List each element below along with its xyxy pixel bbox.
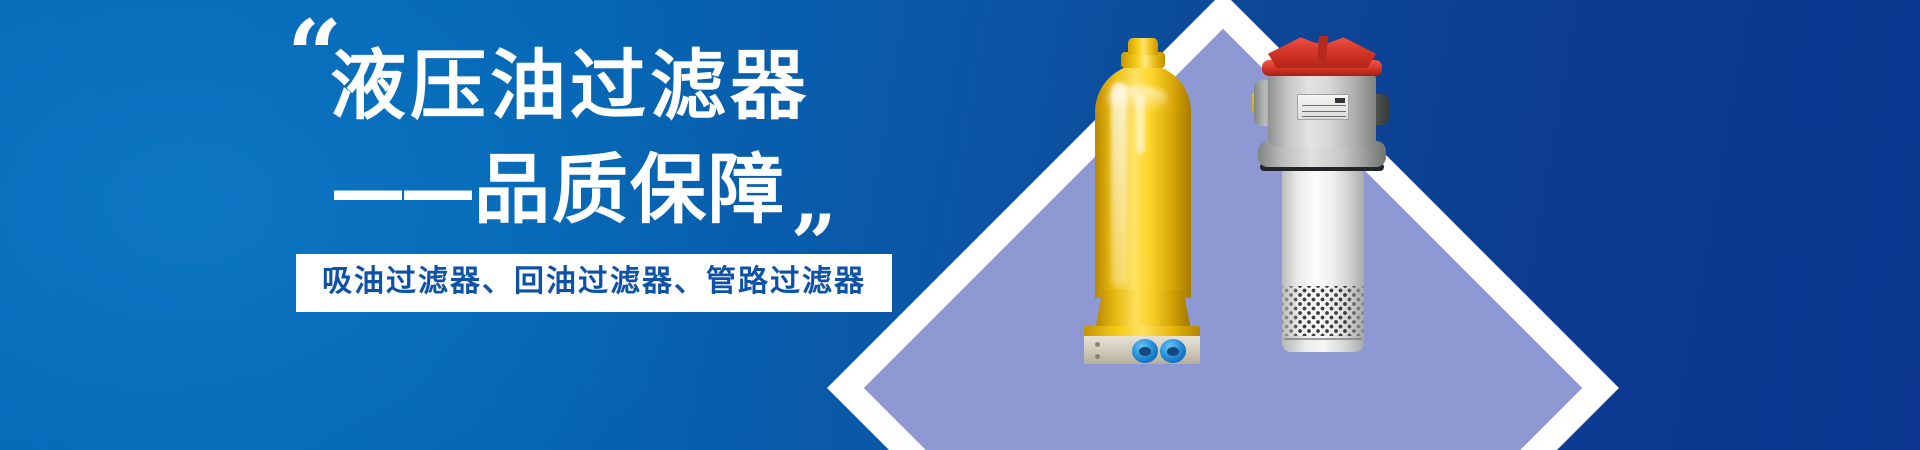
- nameplate-line-2: [1302, 111, 1346, 112]
- nameplate-marking: [1335, 98, 1345, 103]
- closing-quote-mark: „: [792, 158, 834, 238]
- yellow-suction-filter: [1078, 38, 1206, 338]
- filter-top-cap: [1128, 38, 1158, 55]
- filter-gloss-highlight: [1111, 82, 1127, 287]
- title-em-dash: ——: [330, 152, 470, 228]
- filter-screw-upper: [1095, 342, 1100, 347]
- filter-port-cap-right: [1160, 339, 1186, 363]
- filter-taper: [1095, 290, 1191, 330]
- filter-port-cap-left: [1132, 339, 1158, 363]
- banner-title-line-1: 液压油过滤器: [330, 48, 810, 124]
- filter-perforation-pattern: [1282, 286, 1364, 338]
- filter-tube-seam: [1284, 338, 1362, 340]
- title-line-2-text: 品质保障: [474, 152, 786, 228]
- subtitle-text: 吸油过滤器、回油过滤器、管路过滤器: [322, 267, 866, 297]
- promo-banner: “ 液压油过滤器 —— 品质保障 „ 吸油过滤器、回油过滤器、管路过滤器: [0, 0, 1920, 450]
- filter-gloss-highlight-secondary: [1136, 94, 1145, 154]
- subtitle-box: 吸油过滤器、回油过滤器、管路过滤器: [296, 254, 892, 312]
- filter-cap-notch: [1317, 36, 1328, 62]
- filter-nameplate: [1297, 94, 1349, 120]
- nameplate-line-1: [1302, 105, 1346, 106]
- return-line-filter: [1240, 28, 1415, 358]
- banner-title-line-2: —— 品质保障 „: [330, 148, 834, 228]
- filter-screw-lower: [1095, 354, 1100, 359]
- nameplate-line-3: [1302, 116, 1346, 117]
- banner-text-block: “ 液压油过滤器 —— 品质保障 „ 吸油过滤器、回油过滤器、管路过滤器: [0, 0, 950, 450]
